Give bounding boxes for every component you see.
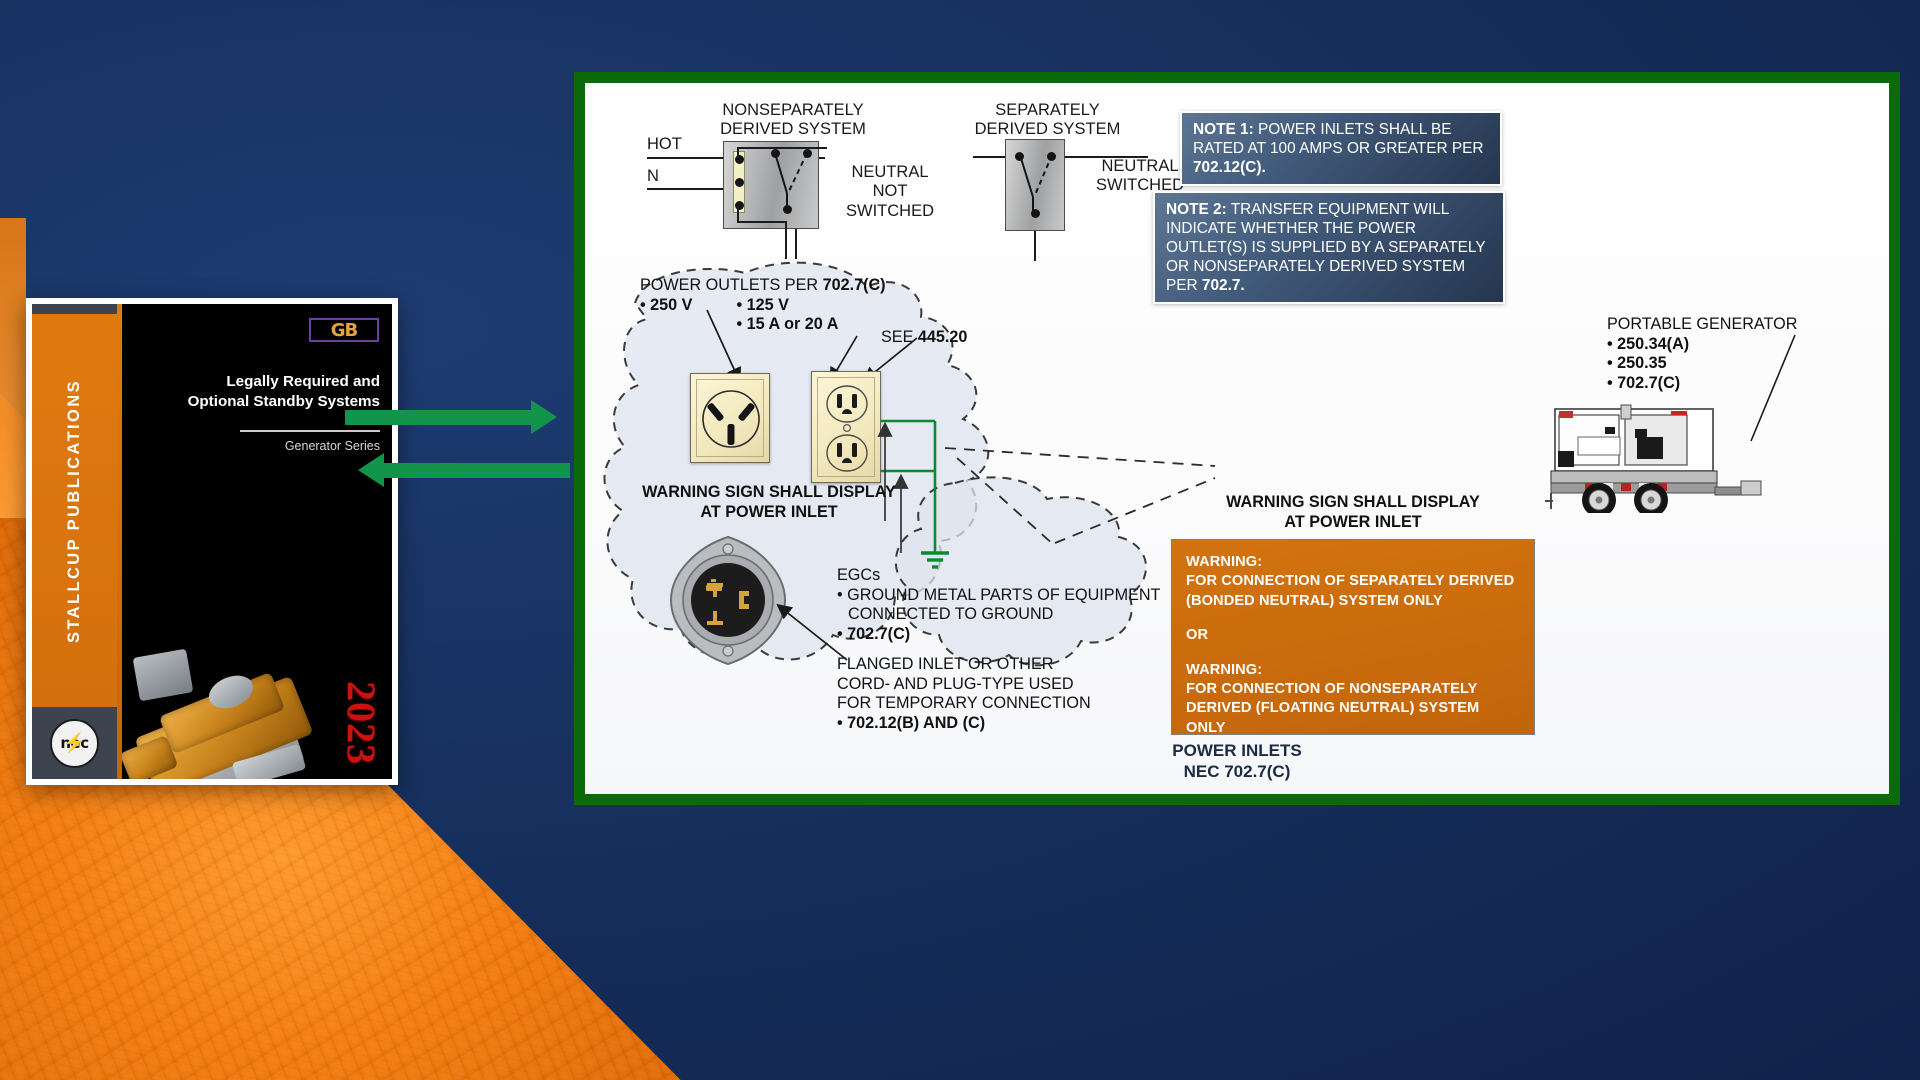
switch-top-bus xyxy=(737,147,827,149)
warning-1-line2: (BONDED NEUTRAL) SYSTEM ONLY xyxy=(1186,592,1520,611)
gb-logo-text: GB xyxy=(331,320,358,341)
arrow-right-shaft xyxy=(345,410,545,425)
portable-generator-callout: PORTABLE GENERATOR • 250.34(A) • 250.35 … xyxy=(1607,315,1867,393)
hot-label: HOT xyxy=(647,135,682,154)
arrow-left-head-icon xyxy=(358,453,384,487)
portable-generator-bullet-2: • 702.7(C) xyxy=(1607,374,1680,392)
neutral-not-switched-line3: SWITCHED xyxy=(825,202,955,221)
separately-derived-heading: SEPARATELY DERIVED SYSTEM xyxy=(940,101,1155,140)
book-spine-band: STALLCUP PUBLICATIONS xyxy=(32,314,117,707)
diagram-caption: POWER INLETS NEC 702.7(C) xyxy=(585,740,1889,783)
warning-display-left-label: WARNING SIGN SHALL DISPLAY AT POWER INLE… xyxy=(609,483,929,522)
gb-brand-logo-icon: GB xyxy=(309,318,379,342)
warning-left-line1: WARNING SIGN SHALL DISPLAY xyxy=(609,483,929,503)
note-2-box: NOTE 2: TRANSFER EQUIPMENT WILL INDICATE… xyxy=(1153,191,1505,304)
book-spine: STALLCUP PUBLICATIONS nec ⚡ xyxy=(32,304,117,779)
nonseparately-derived-heading: NONSEPARATELY DERIVED SYSTEM xyxy=(683,101,903,140)
caption-line1: POWER INLETS xyxy=(585,740,1889,761)
power-outlets-title: POWER OUTLETS PER xyxy=(640,276,823,294)
note-1-ref: 702.12(C). xyxy=(1193,159,1266,176)
switch-left-riser xyxy=(737,147,739,159)
book-year: 2023 xyxy=(338,681,385,765)
warning-or-label: OR xyxy=(1186,626,1520,645)
note-2-ref: 702.7. xyxy=(1202,277,1245,294)
neutral-not-switched-line2: NOT xyxy=(825,182,955,201)
book-cover-inner: STALLCUP PUBLICATIONS nec ⚡ GB xyxy=(32,304,392,779)
neutral-not-switched-label: NEUTRAL NOT SWITCHED xyxy=(825,163,955,221)
book-cover-face: GB Legally Required and Optional Standby… xyxy=(122,304,392,779)
power-outlets-ref: 702.7(C) xyxy=(823,276,886,294)
note-1-box: NOTE 1: POWER INLETS SHALL BE RATED AT 1… xyxy=(1180,111,1502,186)
warning-right-line1: WARNING SIGN SHALL DISPLAY xyxy=(1171,493,1535,513)
range-receptacle-face-icon xyxy=(691,374,769,462)
warning-2-line2: DERIVED (FLOATING NEUTRAL) SYSTEM ONLY xyxy=(1186,699,1520,738)
background-orange-left-strip xyxy=(0,218,26,518)
neutral-label: N xyxy=(647,167,659,186)
warning-sign-box: WARNING: FOR CONNECTION OF SEPARATELY DE… xyxy=(1171,539,1535,735)
warning-sign-gap-2 xyxy=(1186,646,1520,661)
engine-photo-artwork xyxy=(122,580,346,779)
warning-left-line2: AT POWER INLET xyxy=(609,503,929,523)
green-arrows-group xyxy=(345,398,570,493)
egcs-bullet1-line2: CONNECTED TO GROUND xyxy=(837,605,1167,625)
publisher-label: STALLCUP PUBLICATIONS xyxy=(65,379,84,643)
diagram-panel[interactable]: NONSEPARATELY DERIVED SYSTEM HOT N xyxy=(574,72,1900,805)
arrow-right-head-icon xyxy=(531,400,557,434)
portable-generator-trailer xyxy=(1545,403,1767,513)
portable-generator-bullet-1: • 250.35 xyxy=(1607,354,1667,372)
portable-generator-leader-line xyxy=(1745,331,1805,451)
warning-1-head: WARNING: xyxy=(1186,553,1520,572)
warning-right-line2: AT POWER INLET xyxy=(1171,513,1535,533)
nonseparately-heading-line2: DERIVED SYSTEM xyxy=(683,120,903,139)
book-spine-foot: nec ⚡ xyxy=(32,707,117,779)
warning-1-line1: FOR CONNECTION OF SEPARATELY DERIVED xyxy=(1186,572,1520,591)
warning-sign-gap-1 xyxy=(1186,611,1520,626)
callout-leader-arrows xyxy=(625,298,985,408)
flanged-line2: CORD- AND PLUG-TYPE USED xyxy=(837,675,1177,695)
diagram-canvas: NONSEPARATELY DERIVED SYSTEM HOT N xyxy=(585,83,1889,794)
generator-trailer-graphic xyxy=(1545,403,1767,513)
range-receptacle-250v xyxy=(690,373,770,463)
portable-generator-title: PORTABLE GENERATOR xyxy=(1607,315,1867,335)
flanged-bullet: • 702.12(B) AND (C) xyxy=(837,714,985,732)
flanged-line3: FOR TEMPORARY CONNECTION xyxy=(837,694,1177,714)
nonseparately-heading-line1: NONSEPARATELY xyxy=(683,101,903,120)
neutral-not-switched-line1: NEUTRAL xyxy=(825,163,955,182)
separately-heading-line2: DERIVED SYSTEM xyxy=(940,120,1155,139)
warning-2-head: WARNING: xyxy=(1186,661,1520,680)
lightning-bolt-icon: ⚡ xyxy=(63,731,87,755)
switch-bottom-riser xyxy=(737,203,739,223)
note-1-label: NOTE 1: xyxy=(1193,121,1254,138)
warning-2-line1: FOR CONNECTION OF NONSEPARATELY xyxy=(1186,680,1520,699)
warning-display-right-label: WARNING SIGN SHALL DISPLAY AT POWER INLE… xyxy=(1171,493,1535,532)
caption-line2: NEC 702.7(C) xyxy=(585,761,1889,782)
nec-badge-icon: nec ⚡ xyxy=(50,719,99,768)
separately-heading-line1: SEPARATELY xyxy=(940,101,1155,120)
portable-generator-bullet-0: • 250.34(A) xyxy=(1607,335,1689,353)
separately-switch-blades xyxy=(1005,139,1075,239)
flanged-line1: FLANGED INLET OR OTHER xyxy=(837,655,1177,675)
flanged-inlet-callout: FLANGED INLET OR OTHER CORD- AND PLUG-TY… xyxy=(837,655,1177,733)
arrow-left-shaft xyxy=(370,463,570,478)
book-cover[interactable]: STALLCUP PUBLICATIONS nec ⚡ GB xyxy=(26,298,398,785)
note-2-label: NOTE 2: xyxy=(1166,201,1227,218)
switch-bottom-bus xyxy=(737,221,787,223)
flanged-inlet-leader-arrow xyxy=(765,588,855,668)
